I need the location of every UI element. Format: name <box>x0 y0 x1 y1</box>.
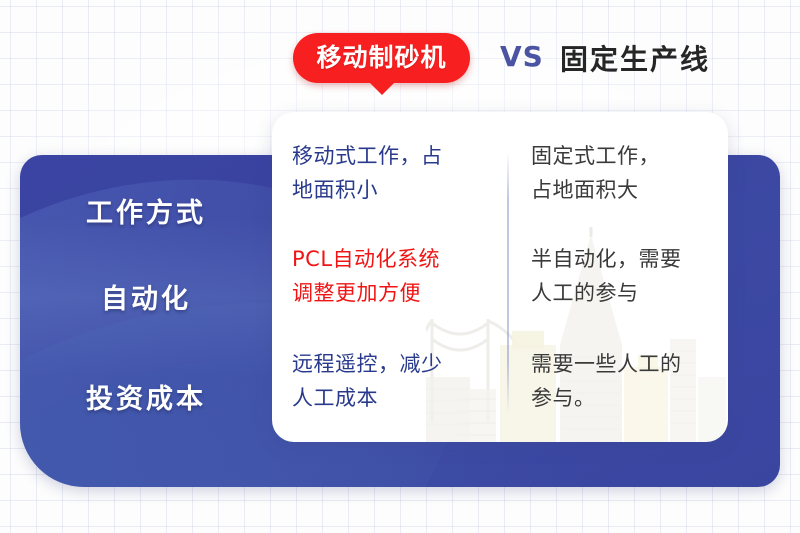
criteria-label-investment-cost: 投资成本 <box>20 377 272 416</box>
cell-fixed-work-mode: 固定式工作， 占地面积大 <box>531 139 727 207</box>
badge-pointer-icon <box>368 81 396 95</box>
cell-fixed-automation: 半自动化，需要 人工的参与 <box>531 242 727 310</box>
mobile-machine-badge: 移动制砂机 <box>293 33 470 83</box>
badge-label: 移动制砂机 <box>293 33 470 83</box>
cell-mobile-investment-cost: 远程遥控，减少 人工成本 <box>292 347 497 415</box>
header: 移动制砂机 VS 固定生产线 <box>0 26 800 92</box>
fixed-line-title: 固定生产线 <box>560 38 710 78</box>
fixed-line-column: 固定式工作， 占地面积大 半自动化，需要 人工的参与 需要一些人工的 参与。 <box>509 112 728 442</box>
criteria-label-work-mode: 工作方式 <box>20 191 272 230</box>
vs-label: VS <box>500 40 544 73</box>
infographic-canvas: 移动制砂机 VS 固定生产线 工作方式 自动化 投资成本 <box>0 0 800 533</box>
cell-mobile-work-mode: 移动式工作，占 地面积小 <box>292 139 497 207</box>
criteria-label-automation: 自动化 <box>20 277 272 316</box>
cell-mobile-automation: PCL自动化系统 调整更加方便 <box>292 242 497 310</box>
comparison-card: 移动式工作，占 地面积小 PCL自动化系统 调整更加方便 远程遥控，减少 人工成… <box>272 112 728 442</box>
cell-fixed-investment-cost: 需要一些人工的 参与。 <box>531 347 727 415</box>
criteria-label-column: 工作方式 自动化 投资成本 <box>20 155 272 487</box>
mobile-machine-column: 移动式工作，占 地面积小 PCL自动化系统 调整更加方便 远程遥控，减少 人工成… <box>272 112 507 442</box>
